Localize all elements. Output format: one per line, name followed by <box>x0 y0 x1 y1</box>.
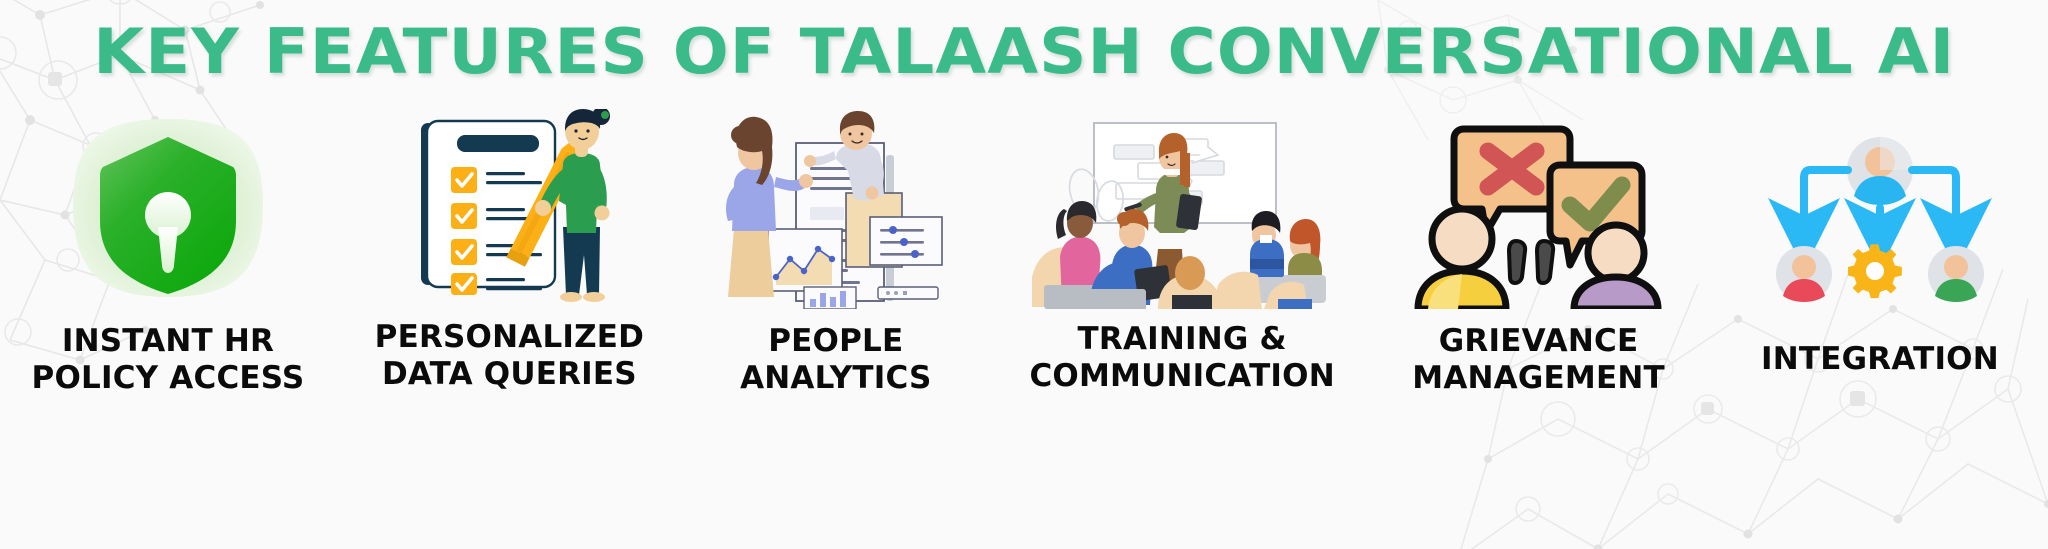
feature-caption: TRAINING & COMMUNICATION <box>1029 321 1334 395</box>
banner-title-container: KEY FEATURES OF TALAASH CONVERSATIONAL A… <box>0 18 2048 86</box>
feature-illustration <box>387 104 632 309</box>
clipboard-checklist-person-icon <box>387 109 632 309</box>
feature-item-personalized-data-queries[interactable]: PERSONALIZED DATA QUERIES <box>364 104 654 393</box>
key-features-banner: KEY FEATURES OF TALAASH CONVERSATIONAL A… <box>0 0 2048 549</box>
feature-item-integration[interactable]: INTEGRATION <box>1730 104 2030 378</box>
avatar-green <box>1928 246 1984 302</box>
shield-keyhole-icon <box>53 109 283 309</box>
avatar-primary <box>1847 137 1913 205</box>
speech-bubbles-dispute-icon <box>1414 109 1664 309</box>
feature-item-instant-hr-policy-access[interactable]: INSTANT HR POLICY ACCESS <box>18 104 318 397</box>
feature-illustration <box>1032 104 1332 309</box>
people-analytics-charts-icon <box>718 109 953 309</box>
exclamation-marks <box>1509 241 1553 283</box>
feature-illustration <box>53 104 283 309</box>
feature-caption: INTEGRATION <box>1761 341 1999 378</box>
feature-illustration <box>718 104 953 309</box>
feature-item-people-analytics[interactable]: PEOPLE ANALYTICS <box>701 104 971 397</box>
arrow-right <box>1912 170 1956 230</box>
gear-icon <box>1848 244 1902 298</box>
page-title: KEY FEATURES OF TALAASH CONVERSATIONAL A… <box>93 18 1955 86</box>
feature-item-training-and-communication[interactable]: TRAINING & COMMUNICATION <box>1017 104 1347 395</box>
feature-caption: PERSONALIZED DATA QUERIES <box>375 319 644 393</box>
integration-arrows-avatars-icon <box>1760 134 2000 309</box>
training-classroom-icon <box>1032 109 1332 309</box>
feature-item-grievance-management[interactable]: GRIEVANCE MANAGEMENT <box>1394 104 1684 397</box>
feature-illustration <box>1760 104 2000 309</box>
feature-caption: PEOPLE ANALYTICS <box>740 323 931 397</box>
feature-caption: INSTANT HR POLICY ACCESS <box>32 323 305 397</box>
feature-illustration <box>1414 104 1664 309</box>
feature-list: INSTANT HR POLICY ACCESS <box>0 104 2048 524</box>
arrow-left <box>1804 170 1848 230</box>
avatar-red <box>1776 246 1832 302</box>
feature-caption: GRIEVANCE MANAGEMENT <box>1412 323 1665 397</box>
